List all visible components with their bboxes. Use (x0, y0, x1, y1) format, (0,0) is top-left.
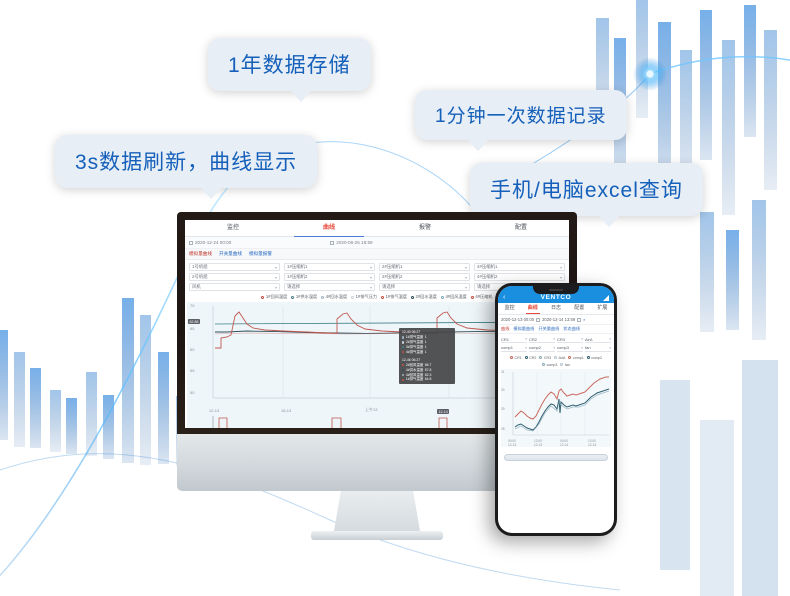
legend-item[interactable]: comp3 (542, 363, 557, 367)
phone-chart-svg (501, 369, 611, 447)
selector-label: 请选择 (287, 284, 300, 290)
poster-stage: 1年数据存储 1分钟一次数据记录 3s数据刷新，曲线显示 手机/电脑excel查… (0, 0, 790, 596)
chevron-down-icon: ▾ (609, 346, 611, 350)
legend-dot (560, 363, 563, 366)
x-tick-bottom: 12-14 (588, 443, 596, 447)
legend-dot (321, 296, 324, 299)
legend-item[interactable]: 4#回水温度 (321, 294, 347, 300)
legend-item[interactable]: 1#回风温度 (261, 294, 287, 300)
chevron-down-icon: ▾ (370, 265, 372, 270)
selector-label: 4#压缩机1 (477, 264, 498, 270)
phone-tab-log[interactable]: 日志 (544, 303, 567, 314)
legend-label: CR3 (544, 356, 551, 360)
legend-label: 4#回水温度 (326, 294, 347, 300)
chip-analog-curve[interactable]: 模拟量曲线 (189, 251, 212, 257)
tooltip-label: 1#排气温度 (406, 377, 423, 382)
chevron-down-icon: ▾ (465, 285, 467, 290)
tab-config[interactable]: 配置 (473, 220, 569, 236)
legend-item[interactable]: AirA (554, 356, 565, 360)
monitor-chip-row[interactable]: 模拟量曲线 开关量曲线 模拟量报警 (185, 249, 569, 260)
legend-item[interactable]: 1#排气压力 (351, 294, 377, 300)
phone-tab-curve[interactable]: 曲线 (521, 303, 544, 314)
legend-label: 4#回风温度 (445, 294, 466, 300)
phone-selector[interactable]: comp2▾ (529, 345, 555, 352)
phone-selector-label: comp3 (557, 345, 569, 350)
selector-label: 4#压缩机2 (477, 274, 498, 280)
phone-selector[interactable]: comp1▾ (501, 345, 527, 352)
phone-date-from[interactable]: 2020-12-13 00:00 (501, 317, 534, 322)
monitor-base (311, 531, 443, 540)
chevron-down-icon: ▾ (560, 275, 562, 280)
selector-label: 1#压缩机2 (287, 274, 308, 280)
date-to-value: 2020-06-25 18:59 (336, 240, 372, 245)
phone-chart-legend[interactable]: CR1 CR2 CR3 AirA comp1 comp2 comp3 fan (498, 354, 614, 369)
phone-chip-switch[interactable]: 开关量曲线 (538, 326, 559, 332)
selector[interactable]: 1#压缩机1▾ (284, 263, 375, 271)
y-tick: 60 (190, 347, 194, 352)
selector[interactable]: 4#压缩机2▾ (474, 273, 565, 281)
y-tick: 28 (501, 427, 505, 431)
legend-dot (261, 296, 264, 299)
legend-dot (525, 356, 528, 359)
wifi-icon (603, 295, 609, 301)
selector[interactable]: 请选择▾ (284, 283, 375, 291)
phone-chip-analog[interactable]: 模拟量曲线 (513, 326, 534, 332)
legend-label: comp1 (573, 356, 584, 360)
callout-data-storage: 1年数据存储 (208, 38, 371, 91)
monitor-stand (334, 491, 420, 531)
tab-monitor[interactable]: 监控 (185, 220, 281, 236)
monitor-tab-bar[interactable]: 监控 曲线 报警 配置 (185, 220, 569, 237)
y-tick: 30 (501, 388, 505, 392)
phone-selector-label: CR1 (501, 337, 509, 342)
selector[interactable]: 4#压缩机1▾ (474, 263, 565, 271)
legend-label: 4#压缩机 (475, 294, 492, 300)
phone-screen: ‹ VENTCO 监控 曲线 日志 配置 扩展 2020-12-13 00:00… (498, 286, 614, 533)
legend-dot (351, 296, 354, 299)
selector[interactable]: 2#压缩机1▾ (379, 263, 470, 271)
selector-label: 请选择 (477, 284, 490, 290)
legend-dot (554, 356, 557, 359)
chevron-down-icon: ▾ (275, 285, 277, 290)
legend-label: 2#回水温度 (416, 294, 437, 300)
chip-switch-curve[interactable]: 开关量曲线 (219, 251, 242, 257)
chevron-down-icon: ▾ (275, 275, 277, 280)
selector[interactable]: 风机▾ (189, 283, 280, 291)
legend-label: comp3 (547, 363, 558, 367)
date-to-cell[interactable]: 2020-06-25 18:59 (330, 240, 372, 245)
phone-line-chart[interactable]: 31 30 29 28 00:00 12-13 12:00 12-13 00:0… (501, 369, 611, 447)
phone-selector[interactable]: fan▾ (585, 345, 611, 352)
selector[interactable]: 1号机组▾ (189, 263, 280, 271)
phone-selector[interactable]: CR3▾ (557, 336, 583, 343)
y-tick: 70 (190, 303, 194, 308)
y-tick: 50 (190, 390, 194, 395)
legend-label: 1#回风温度 (266, 294, 287, 300)
phone-app-title: VENTCO (541, 294, 572, 301)
selector-label: 1号机组 (192, 264, 208, 270)
selector-label: 请选择 (382, 284, 395, 290)
legend-item[interactable]: comp2 (587, 356, 602, 360)
chevron-down-icon: ▾ (465, 275, 467, 280)
legend-label: CR1 (515, 356, 522, 360)
chevron-down-icon: ▾ (553, 346, 555, 350)
phone-selector[interactable]: CR1▾ (501, 336, 527, 343)
phone-selector[interactable]: CR2▾ (529, 336, 555, 343)
phone-selector-label: CR3 (557, 337, 565, 342)
chart-tooltip: 12-40 06:27 1#排气温度1 2#排气温度1 3#排气温度1 4#排气… (399, 328, 455, 384)
phone-selector-grid[interactable]: CR1▾ CR2▾ CR3▾ AirA▾ comp1▾ comp2▾ comp3… (498, 334, 614, 354)
chevron-down-icon: ▾ (370, 275, 372, 280)
chevron-down-icon: ▾ (553, 337, 555, 341)
date-from-cell[interactable]: 2020-12-24 00:00 (189, 240, 231, 245)
phone-selector-label: CR2 (529, 337, 537, 342)
phone-selector-label: comp1 (501, 345, 513, 350)
selector[interactable]: 2#压缩机2▾ (379, 273, 470, 281)
tooltip-value: 64.8 (425, 377, 432, 382)
tab-alarm[interactable]: 报警 (377, 220, 473, 236)
y-tick: 65 (190, 326, 194, 331)
phone-selector[interactable]: comp3▾ (557, 345, 583, 352)
chip-analog-alarm[interactable]: 模拟量报警 (249, 251, 272, 257)
legend-dot (471, 296, 474, 299)
calendar-icon (577, 318, 581, 322)
legend-dot (568, 356, 571, 359)
chevron-left-icon[interactable]: ‹ (503, 294, 506, 301)
phone-tab-extend[interactable]: 扩展 (591, 303, 614, 314)
selector-label: 1#压缩机1 (287, 264, 308, 270)
legend-dot (539, 356, 542, 359)
bg-bars-right (596, 0, 778, 596)
tooltip-value: 1 (425, 350, 427, 355)
tooltip-label: 4#排气温度 (406, 350, 423, 355)
legend-item[interactable]: CR2 (525, 356, 537, 360)
legend-label: fan (565, 363, 570, 367)
phone-selector-label: fan (585, 345, 591, 350)
legend-item[interactable]: comp1 (568, 356, 583, 360)
callout-excel-query: 手机/电脑excel查询 (470, 163, 703, 216)
selector-label: 2#压缩机1 (382, 264, 403, 270)
phone-tab-bar[interactable]: 监控 曲线 日志 配置 扩展 (498, 303, 614, 315)
date-from-value: 2020-12-24 00:00 (195, 240, 231, 245)
x-tick: 上午13 (365, 407, 377, 413)
callout-refresh-rate: 3s数据刷新，曲线显示 (55, 135, 317, 188)
y-tick: 29 (501, 407, 505, 411)
monitor-date-range[interactable]: 2020-12-24 00:00 2020-06-25 18:59 (185, 237, 569, 249)
legend-dot (441, 296, 444, 299)
phone-range-slider[interactable] (504, 454, 608, 461)
callout-record-interval: 1分钟一次数据记录 (415, 90, 627, 140)
calendar-icon (189, 241, 193, 245)
chevron-down-icon: ▾ (465, 265, 467, 270)
legend-dot (587, 356, 590, 359)
chevron-down-icon: ▾ (560, 265, 562, 270)
phone-selector[interactable]: AirA▾ (585, 336, 611, 343)
x-tick-bottom: 12-14 (560, 443, 568, 447)
selector-label: 2#压缩机2 (382, 274, 403, 280)
x-tick-bottom: 12-13 (534, 443, 542, 447)
legend-label: comp2 (591, 356, 602, 360)
phone-selector-label: comp2 (529, 345, 541, 350)
legend-label: 1#排气压力 (356, 294, 377, 300)
legend-dot (381, 296, 384, 299)
legend-dot (291, 296, 294, 299)
selector[interactable]: 请选择▾ (379, 283, 470, 291)
phone-date-range[interactable]: 2020-12-13 00:00 2020-12-14 13:59 ⌕ (498, 315, 614, 325)
phone-tab-config[interactable]: 配置 (568, 303, 591, 314)
selector-label: 风机 (192, 284, 201, 290)
legend-label: AirA (559, 356, 566, 360)
chevron-down-icon: ▾ (525, 346, 527, 350)
y-axis-marker: 62.85 (188, 319, 200, 324)
chevron-down-icon: ▾ (370, 285, 372, 290)
search-icon[interactable]: ⌕ (583, 317, 585, 322)
legend-item[interactable]: CR1 (510, 356, 522, 360)
phone-chip-row[interactable]: 曲线 模拟量曲线 开关量曲线 状态曲线 (498, 325, 614, 334)
legend-item[interactable]: 4#压缩机 (471, 294, 493, 300)
phone-notch (533, 286, 579, 294)
legend-dot (411, 296, 414, 299)
mobile-phone: ‹ VENTCO 监控 曲线 日志 配置 扩展 2020-12-13 00:00… (495, 283, 617, 536)
phone-chip-curve[interactable]: 曲线 (501, 326, 509, 332)
phone-chip-state[interactable]: 状态曲线 (563, 326, 580, 332)
chevron-down-icon: ▾ (275, 265, 277, 270)
chevron-down-icon: ▾ (525, 337, 527, 341)
selector-label: 2号机组 (192, 274, 208, 280)
x-tick: 18-13 (281, 408, 291, 413)
legend-label: 1#排气温度 (386, 294, 407, 300)
chevron-down-icon: ▾ (581, 346, 583, 350)
phone-date-to[interactable]: 2020-12-14 13:59 (542, 317, 575, 322)
legend-item[interactable]: 1#排气温度 (381, 294, 407, 300)
x-tick: 12-13 (209, 408, 219, 413)
calendar-icon (330, 241, 334, 245)
selector[interactable]: 1#压缩机2▾ (284, 273, 375, 281)
chevron-down-icon: ▾ (609, 337, 611, 341)
tab-curve[interactable]: 曲线 (281, 220, 377, 236)
legend-item[interactable]: 2#回水温度 (411, 294, 437, 300)
legend-item[interactable]: 1#供水温度 (291, 294, 317, 300)
legend-dot (510, 356, 513, 359)
phone-selector-label: AirA (585, 337, 593, 342)
legend-dot (542, 363, 545, 366)
y-tick: 55 (190, 368, 194, 373)
tooltip-row: 1#排气温度64.8 (402, 377, 452, 382)
legend-label: 1#供水温度 (296, 294, 317, 300)
speaker-icon (549, 289, 563, 291)
phone-tab-monitor[interactable]: 监控 (498, 303, 521, 314)
legend-item[interactable]: CR3 (539, 356, 551, 360)
selector[interactable]: 2号机组▾ (189, 273, 280, 281)
legend-item[interactable]: 4#回风温度 (441, 294, 467, 300)
x-tick-bottom: 12-13 (508, 443, 516, 447)
legend-item[interactable]: fan (560, 363, 570, 367)
y-tick: 31 (501, 370, 505, 374)
calendar-icon (536, 318, 540, 322)
legend-label: CR2 (529, 356, 536, 360)
chevron-down-icon: ▾ (581, 337, 583, 341)
